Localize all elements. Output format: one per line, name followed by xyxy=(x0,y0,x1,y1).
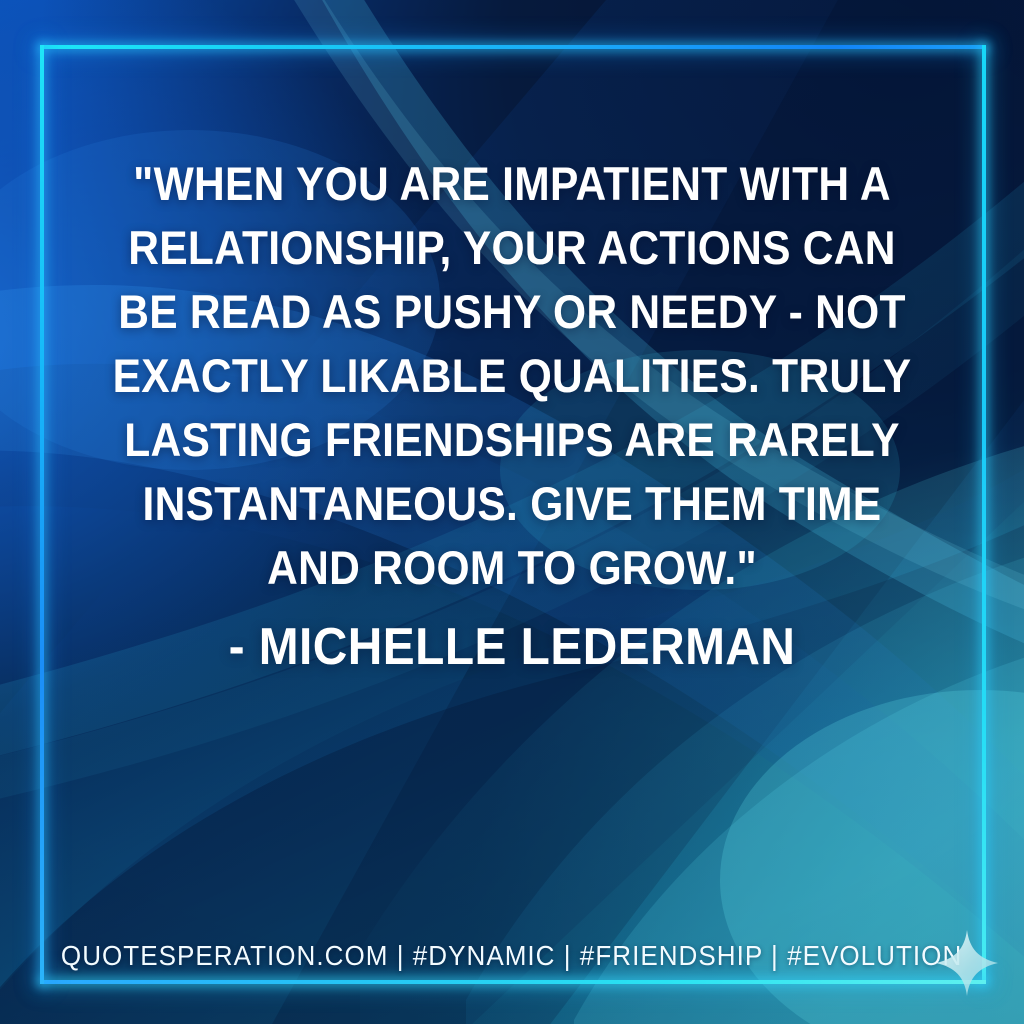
footer-credits: QUOTESPERATION.COM | #DYNAMIC | #FRIENDS… xyxy=(61,940,962,972)
quote-attribution: - MICHELLE LEDERMAN xyxy=(98,616,926,678)
frame-top-edge xyxy=(40,45,986,49)
frame-left-edge xyxy=(40,45,44,984)
frame-bottom-edge xyxy=(40,980,986,984)
quote-card: "WHEN YOU ARE IMPATIENT WITH A RELATIONS… xyxy=(0,0,1024,1024)
frame-right-edge xyxy=(982,45,986,984)
footer-bar: QUOTESPERATION.COM | #DYNAMIC | #FRIENDS… xyxy=(44,934,980,978)
quote-text: "WHEN YOU ARE IMPATIENT WITH A RELATIONS… xyxy=(105,152,920,600)
